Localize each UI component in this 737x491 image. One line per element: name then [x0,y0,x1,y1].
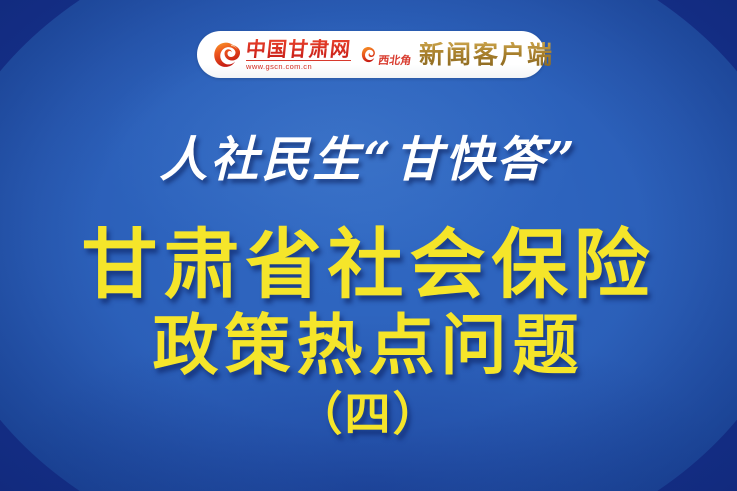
poster-subtitle: 人社民生“甘快答” [0,132,737,188]
poster-title-line-1: 甘肃省社会保险 [0,222,737,308]
poster-title-line-3: （四） [0,386,737,442]
header-logo-bar[interactable]: 中国甘肃网 www.gscn.com.cn 西北角 新闻客户端 [197,31,545,78]
gscn-chinese-name: 中国甘肃网 [245,39,352,59]
poster-canvas: 中国甘肃网 www.gscn.com.cn 西北角 新闻客户端 人社民生“甘快答… [0,0,737,491]
app-name-label: 新闻客户端 [419,42,554,67]
poster-title-line-2: 政策热点问题 [0,308,737,384]
poster-title-block: 甘肃省社会保险 政策热点问题 （四） [0,222,737,442]
gscn-spiral-icon [211,39,241,70]
gscn-url: www.gscn.com.cn [246,60,351,71]
gscn-wordmark: 中国甘肃网 www.gscn.com.cn [246,39,351,71]
xibeijiao-flame-icon [360,45,377,65]
xibeijiao-label: 西北角 [377,52,412,68]
